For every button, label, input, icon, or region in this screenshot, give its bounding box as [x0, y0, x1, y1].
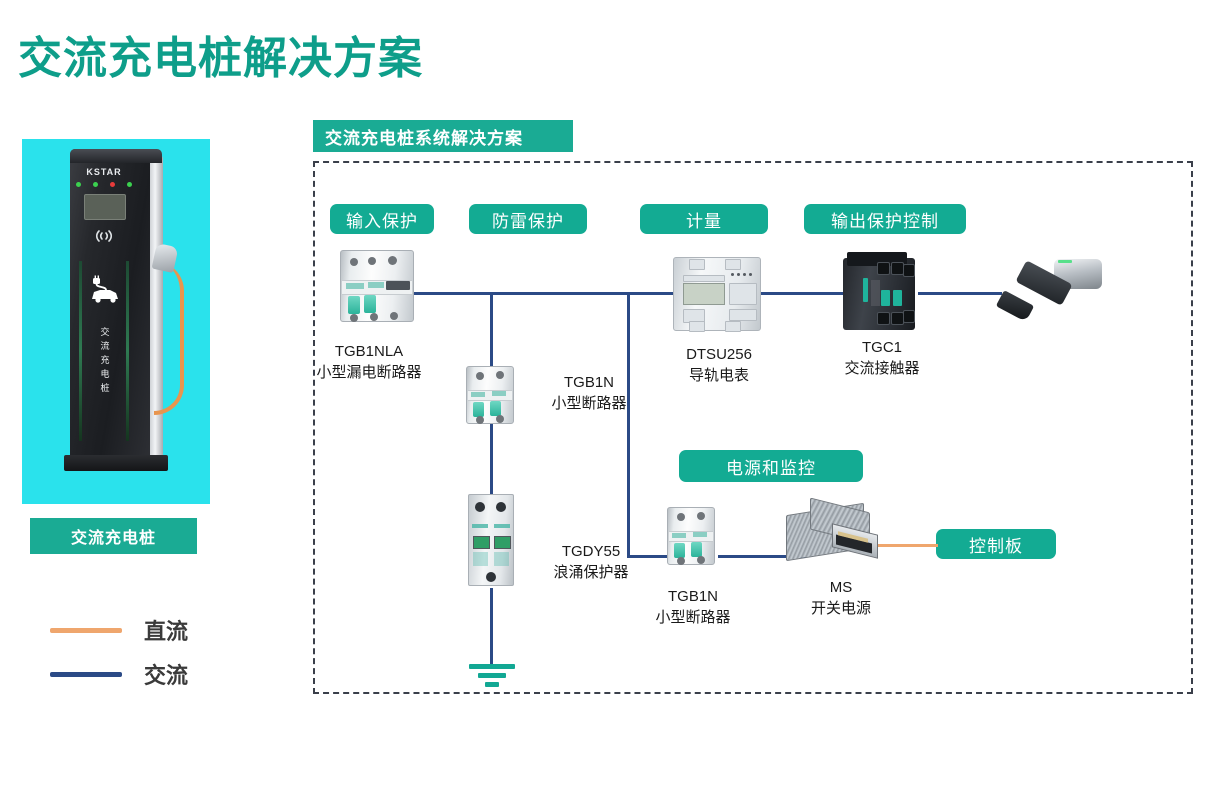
device-spd: [468, 494, 516, 588]
pile-brand-label: KSTAR: [62, 167, 146, 177]
legend: 直流 交流: [50, 608, 188, 696]
device-power-supply: [786, 505, 882, 567]
legend-swatch-ac: [50, 672, 122, 677]
wire-ac-drop-to-psu-branch: [627, 292, 630, 557]
pill-control-board[interactable]: 控制板: [936, 529, 1056, 559]
label-power-supply: MS 开关电源: [786, 577, 896, 619]
pile-light-stripe: [126, 261, 129, 441]
pile-top-cap: [70, 149, 162, 163]
pill-input-protection[interactable]: 输入保护: [330, 204, 434, 234]
ev-charging-icon: [88, 275, 122, 305]
ground-symbol: [468, 664, 516, 691]
slide-root: 交流充电桩解决方案 KSTAR: [0, 0, 1213, 812]
section-banner: 交流充电桩系统解决方案: [313, 120, 573, 152]
pile-display-screen: [84, 194, 126, 220]
charging-pile-illustration: KSTAR: [62, 149, 170, 489]
led-indicator: [127, 182, 132, 187]
legend-label-ac: 交流: [144, 658, 188, 690]
device-rcbo: [340, 250, 420, 328]
legend-item-ac: 交流: [50, 652, 188, 696]
label-spd: TGDY55 浪涌保护器: [531, 541, 651, 583]
wire-dc-psu-to-control-board: [878, 544, 938, 547]
device-meter: [673, 257, 765, 335]
product-caption: 交流充电桩: [30, 518, 197, 554]
pill-output-protection-control[interactable]: 输出保护控制: [804, 204, 966, 234]
charging-cable: [154, 261, 184, 415]
led-indicator: [76, 182, 81, 187]
wire-ac-mcb-to-spd: [490, 424, 493, 494]
pile-base: [64, 455, 168, 471]
label-rcbo: TGB1NLA 小型漏电断路器: [304, 341, 434, 383]
legend-swatch-dc: [50, 628, 122, 633]
diagram-frame: [313, 161, 1193, 694]
page-title: 交流充电桩解决方案: [18, 22, 423, 86]
label-meter: DTSU256 导轨电表: [659, 344, 779, 386]
wire-ac-contactor-to-gun: [918, 292, 1002, 295]
device-mcb-lower: [667, 507, 719, 567]
wire-ac-meter-to-contactor: [760, 292, 846, 295]
device-mcb-upper: [466, 366, 518, 426]
pile-led-row: [76, 182, 132, 189]
wire-ac-bus-main: [404, 292, 676, 295]
wire-ac-spd-to-ground: [490, 588, 493, 664]
led-indicator: [93, 182, 98, 187]
device-ev-charging-gun: [992, 255, 1102, 327]
pile-light-stripe: [79, 261, 82, 441]
legend-item-dc: 直流: [50, 608, 188, 652]
pill-lightning-protection[interactable]: 防雷保护: [469, 204, 587, 234]
label-mcb-upper: TGB1N 小型断路器: [529, 372, 649, 414]
rfid-icon: [92, 227, 116, 247]
pile-vertical-text: 交流充电桩: [94, 325, 116, 395]
pill-power-and-monitoring[interactable]: 电源和监控: [679, 450, 863, 482]
pill-metering[interactable]: 计量: [640, 204, 768, 234]
product-photo: KSTAR: [22, 139, 210, 504]
led-indicator: [110, 182, 115, 187]
legend-label-dc: 直流: [144, 614, 188, 646]
label-mcb-lower: TGB1N 小型断路器: [633, 586, 753, 628]
label-contactor: TGC1 交流接触器: [822, 337, 942, 379]
wire-ac-drop-to-mcb: [490, 292, 493, 366]
device-contactor: [843, 252, 919, 334]
